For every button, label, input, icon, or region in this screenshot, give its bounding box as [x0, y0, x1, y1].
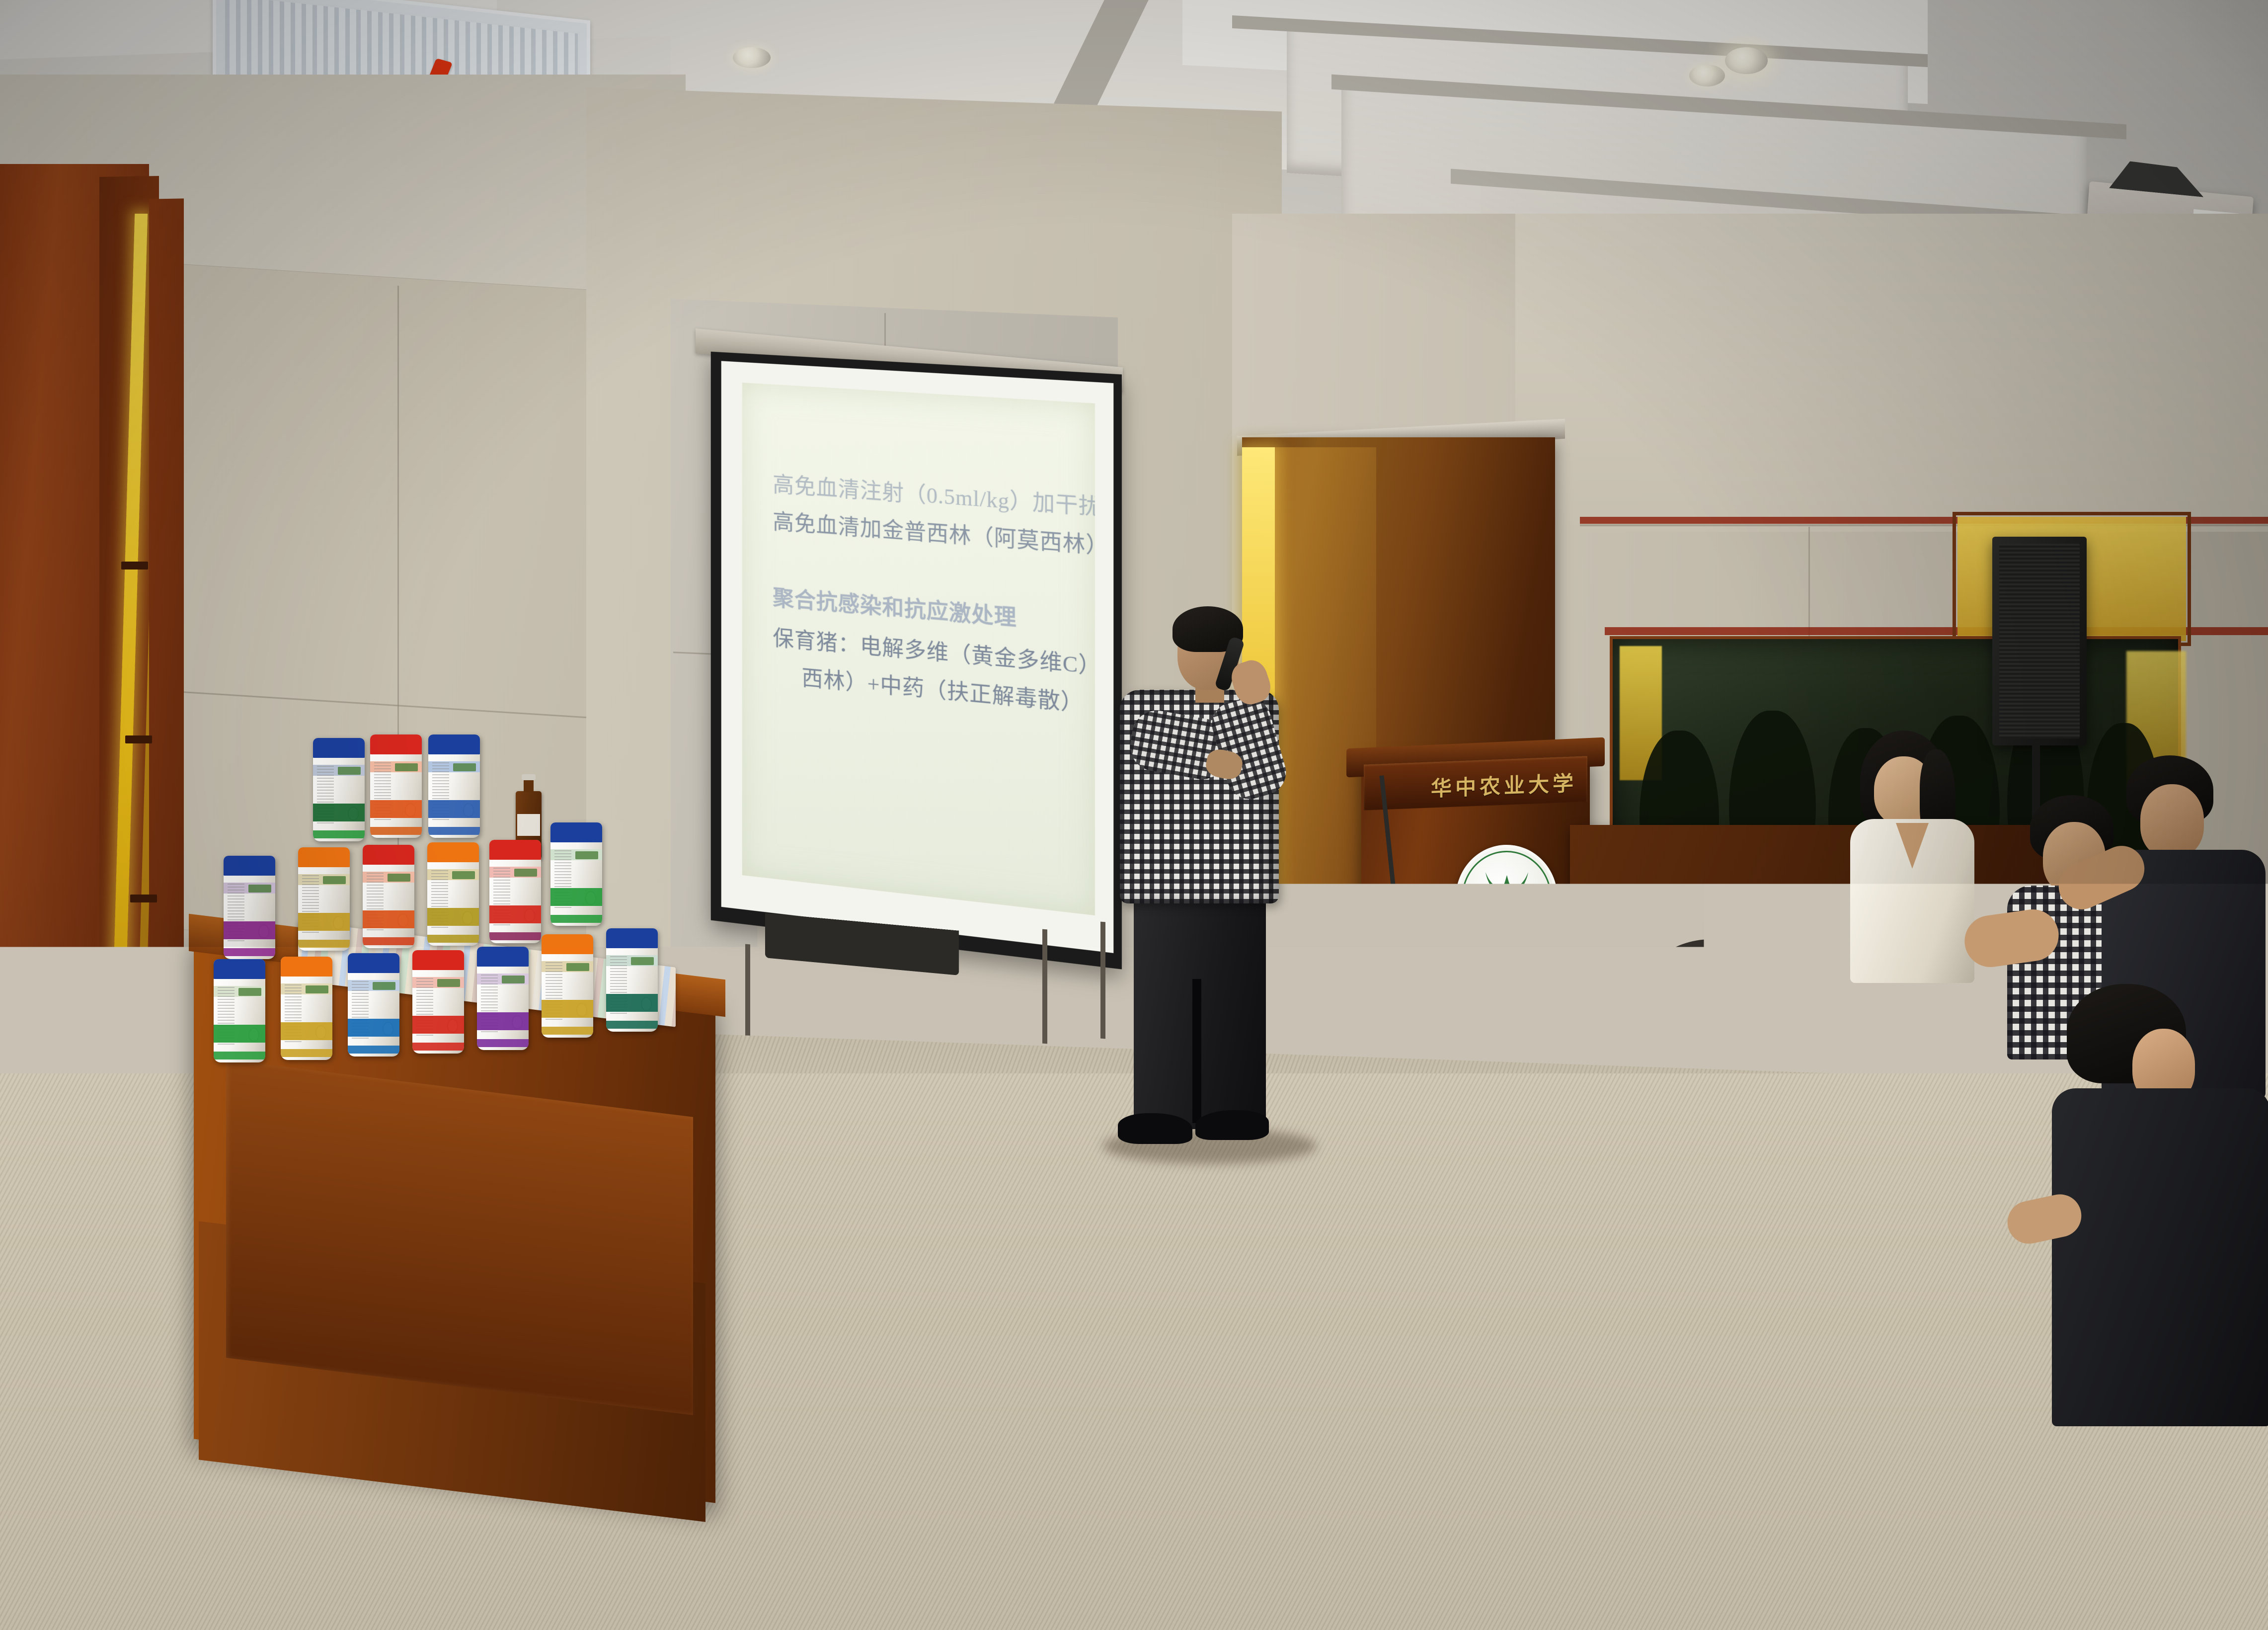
jar-color-band	[370, 800, 422, 818]
jar-color-band	[214, 1025, 265, 1043]
jar-color-band	[348, 1019, 399, 1037]
podium-institution-label: 华中农业大学	[1431, 766, 1577, 802]
downlight-icon	[1689, 65, 1725, 86]
slide-text-block: 高免血清注射（0.5ml/kg）加干扰素（15ug/kg） 高免血清加金普西林（…	[773, 469, 1077, 725]
downlight-icon	[733, 47, 771, 68]
product-jar[interactable]	[412, 950, 464, 1054]
jar-color-band	[606, 994, 658, 1012]
jar-lid	[224, 856, 275, 876]
jar-brand-mark	[248, 885, 271, 893]
slide-area: 高免血清注射（0.5ml/kg）加干扰素（15ug/kg） 高免血清加金普西林（…	[742, 383, 1095, 915]
jar-color-band	[224, 921, 275, 939]
wall-right-upper	[1515, 214, 2268, 532]
jar-foot-band	[363, 937, 414, 945]
presenter-shoe-left	[1118, 1113, 1192, 1144]
jar-foot-band	[298, 940, 350, 948]
camera-date-stamp: 2014. 03. 30	[1729, 1491, 2231, 1566]
chair-stud	[2107, 1456, 2114, 1464]
bottle-label	[517, 814, 540, 836]
mug-ring	[1630, 1088, 1675, 1092]
presenter	[1098, 601, 1346, 1163]
projection-screen: 高免血清注射（0.5ml/kg）加干扰素（15ug/kg） 高免血清加金普西林（…	[711, 352, 1122, 970]
jar-lid	[313, 738, 365, 758]
jar-foot-band	[550, 915, 602, 923]
jar-color-band	[298, 913, 350, 931]
logo-arc-text: HUAZHONG AGRICULTURAL UNIVERSITY	[1456, 937, 1558, 948]
jar-lid	[606, 928, 658, 948]
jar-brand-mark	[323, 876, 346, 884]
door-hinge	[125, 735, 152, 743]
jar-color-band	[477, 1012, 529, 1030]
coffee-mug[interactable]	[1630, 1073, 1675, 1127]
chair-right[interactable]	[2121, 1203, 2268, 1511]
jar-lid	[542, 934, 593, 954]
jar-color-band	[363, 910, 414, 928]
mug-ring	[1948, 927, 1989, 931]
name-card-guest[interactable]: 嘉宾	[1918, 1065, 1972, 1114]
jar-lid	[348, 953, 399, 973]
jar-lid	[550, 822, 602, 842]
product-jar[interactable]	[542, 934, 593, 1038]
jar-color-band	[313, 804, 365, 821]
attendee-face	[2140, 784, 2204, 858]
jar-foot-band	[224, 948, 275, 956]
jar-brand-mark	[502, 976, 525, 983]
jar-brand-mark	[566, 963, 589, 971]
product-jar[interactable]	[606, 928, 658, 1032]
jar-foot-band	[489, 932, 541, 940]
downlight-icon	[1725, 47, 1768, 74]
jar-foot-band	[348, 1046, 399, 1054]
product-jar[interactable]	[428, 734, 480, 838]
jar-brand-mark	[514, 869, 537, 877]
jar-brand-mark	[306, 985, 328, 993]
jar-brand-mark	[395, 763, 418, 771]
presenter-shoe-right	[1195, 1110, 1269, 1140]
speaker-grille	[1999, 544, 2080, 738]
jar-color-band	[428, 800, 480, 818]
bottle-cap	[522, 774, 536, 780]
jar-foot-band	[412, 1043, 464, 1051]
jar-brand-mark	[238, 988, 261, 996]
jar-lid	[489, 840, 541, 860]
jar-lid	[477, 947, 529, 967]
jar-lid	[428, 734, 480, 754]
jar-foot-band	[313, 830, 365, 838]
jar-lid	[363, 845, 414, 865]
product-jar[interactable]	[477, 947, 529, 1050]
jar-foot-band	[477, 1039, 529, 1047]
jar-color-band	[281, 1022, 332, 1040]
logo-year: 1898	[1456, 927, 1558, 937]
jar-brand-mark	[575, 851, 598, 859]
product-display-table-front	[226, 1059, 693, 1415]
university-logo: 1898 HUAZHONG AGRICULTURAL UNIVERSITY	[1456, 845, 1558, 952]
jar-foot-band	[542, 1027, 593, 1035]
jar-color-band	[412, 1016, 464, 1034]
loudspeaker-icon	[1992, 537, 2087, 745]
name-card-front[interactable]: 陈品	[1529, 1089, 1606, 1147]
jar-color-band	[550, 888, 602, 906]
jar-brand-mark	[373, 982, 395, 990]
thermos-flask[interactable]	[1938, 954, 1969, 1059]
product-jar[interactable]	[363, 845, 414, 948]
product-jar[interactable]	[313, 738, 365, 841]
jar-color-band	[489, 905, 541, 923]
door-hinge	[121, 562, 148, 570]
jar-foot-band	[214, 1052, 265, 1059]
jar-lid	[214, 959, 265, 979]
door-hinge	[130, 895, 157, 902]
product-jar[interactable]	[224, 856, 275, 959]
screen-support-pole	[745, 944, 750, 1049]
chair-stud	[2231, 1287, 2239, 1295]
jar-foot-band	[427, 935, 479, 943]
jar-brand-mark	[453, 763, 476, 771]
screen-surface: 高免血清注射（0.5ml/kg）加干扰素（15ug/kg） 高免血清加金普西林（…	[721, 361, 1114, 953]
product-jar[interactable]	[489, 840, 541, 943]
product-jar[interactable]	[370, 734, 422, 838]
jar-brand-mark	[452, 871, 475, 879]
jar-color-band	[542, 1000, 593, 1018]
jar-brand-mark	[388, 874, 410, 882]
coffee-mug[interactable]	[1948, 912, 1989, 962]
jar-brand-mark	[631, 957, 654, 965]
jar-lid	[298, 847, 350, 867]
conference-room-photo: 高免血清注射（0.5ml/kg）加干扰素（15ug/kg） 高免血清加金普西林（…	[0, 0, 2268, 1630]
name-card-guest-text: 嘉宾	[1927, 1076, 1963, 1104]
jar-foot-band	[370, 827, 422, 835]
product-jar[interactable]	[427, 842, 479, 946]
thermos-cap	[1915, 1052, 1943, 1063]
jar-color-band	[427, 908, 479, 926]
product-jar[interactable]	[281, 957, 332, 1060]
product-jar[interactable]	[550, 822, 602, 926]
product-jar[interactable]	[214, 959, 265, 1062]
jar-foot-band	[428, 827, 480, 835]
jar-lid	[412, 950, 464, 970]
jar-foot-band	[606, 1021, 658, 1029]
chair-leg	[1883, 1560, 1909, 1630]
jar-brand-mark	[437, 979, 460, 987]
jar-lid	[281, 957, 332, 977]
jar-lid	[370, 734, 422, 754]
product-jar[interactable]	[348, 953, 399, 1057]
jar-lid	[427, 842, 479, 862]
jar-foot-band	[281, 1049, 332, 1057]
presenter-leg-gap	[1192, 979, 1201, 1123]
screen-support-pole	[1042, 929, 1047, 1044]
bottle-neck	[524, 778, 534, 792]
product-jar[interactable]	[298, 847, 350, 951]
jar-brand-mark	[338, 767, 361, 775]
logo-mark-icon	[1480, 868, 1534, 933]
blue-booklet[interactable]	[1378, 1150, 1548, 1245]
name-card-front-text: 陈品	[1549, 1105, 1586, 1131]
